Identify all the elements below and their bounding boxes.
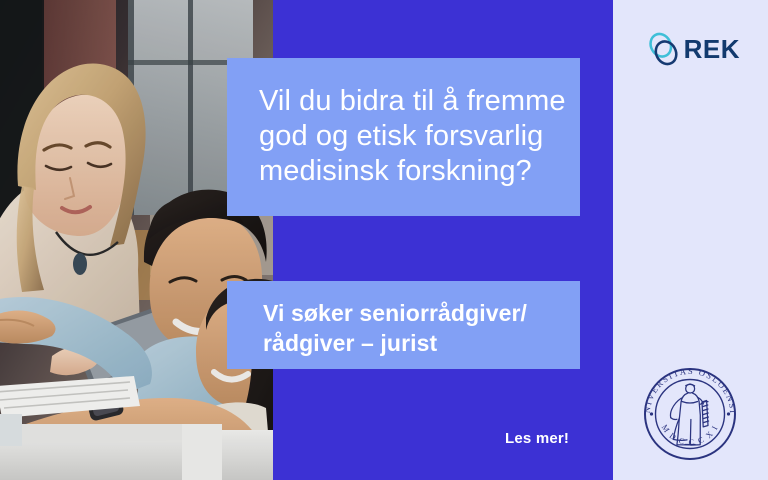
headline-line-2: god og etisk forsvarlig: [259, 119, 552, 154]
job-title-line-2: rådgiver – jurist: [263, 328, 560, 358]
job-title-line-1: Vi søker seniorrådgiver/: [263, 298, 560, 328]
job-advert-banner: Vil du bidra til å fremme god og etisk f…: [0, 0, 768, 480]
headline-line-1: Vil du bidra til å fremme: [259, 84, 552, 119]
interlocking-loops-icon: [648, 27, 680, 71]
rek-wordmark: REK: [684, 36, 740, 62]
rek-logo[interactable]: REK: [648, 26, 740, 72]
read-more-link[interactable]: Les mer!: [505, 430, 569, 447]
headline-line-3: medisinsk forskning?: [259, 154, 552, 189]
uio-seal: UNIVERSITAS OSLOENSIS M D C C C X I: [638, 362, 742, 466]
headline-card: Vil du bidra til å fremme god og etisk f…: [227, 58, 580, 216]
job-title-card: Vi søker seniorrådgiver/ rådgiver – juri…: [227, 281, 580, 369]
